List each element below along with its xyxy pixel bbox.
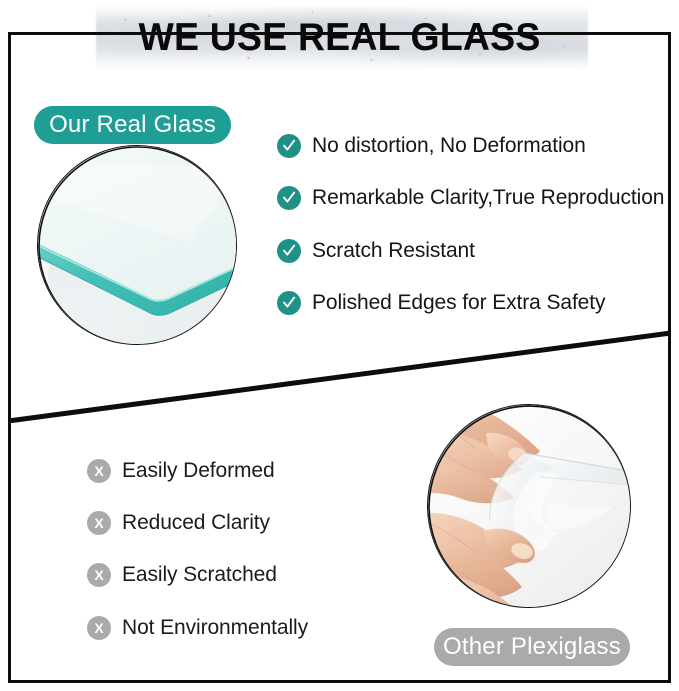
feature-row-good-4: Polished Edges for Extra Safety <box>277 291 605 315</box>
x-circle-icon-mark: X <box>94 568 103 582</box>
x-circle-icon-mark: X <box>94 621 103 635</box>
feature-row-bad-4: X Not Environmentally <box>87 616 308 640</box>
x-circle-icon-mark: X <box>94 464 103 478</box>
badge-other-plexiglass-label: Other Plexiglass <box>443 633 621 661</box>
feature-row-good-3: Scratch Resistant <box>277 239 475 263</box>
feature-row-bad-2: X Reduced Clarity <box>87 511 270 535</box>
photo-real-glass <box>37 145 237 345</box>
badge-other-plexiglass: Other Plexiglass <box>434 628 630 666</box>
feature-label: Scratch Resistant <box>312 239 475 263</box>
check-circle-icon <box>277 291 301 315</box>
feature-row-bad-1: X Easily Deformed <box>87 459 275 483</box>
feature-row-good-2: Remarkable Clarity,True Reproduction <box>277 186 664 210</box>
feature-label: Easily Deformed <box>122 459 275 483</box>
feature-label: Easily Scratched <box>122 563 277 587</box>
feature-row-good-1: No distortion, No Deformation <box>277 134 586 158</box>
page-title: WE USE REAL GLASS <box>14 16 666 60</box>
feature-label: No distortion, No Deformation <box>312 134 586 158</box>
check-circle-icon <box>277 134 301 158</box>
x-circle-icon: X <box>87 459 111 483</box>
x-circle-icon: X <box>87 563 111 587</box>
badge-our-real-glass-label: Our Real Glass <box>49 111 216 139</box>
feature-label: Not Environmentally <box>122 616 308 640</box>
feature-label: Polished Edges for Extra Safety <box>312 291 605 315</box>
feature-label: Reduced Clarity <box>122 511 270 535</box>
check-circle-icon <box>277 239 301 263</box>
x-circle-icon: X <box>87 511 111 535</box>
badge-our-real-glass: Our Real Glass <box>34 106 231 144</box>
feature-row-bad-3: X Easily Scratched <box>87 563 277 587</box>
check-circle-icon <box>277 186 301 210</box>
x-circle-icon-mark: X <box>94 516 103 530</box>
x-circle-icon: X <box>87 616 111 640</box>
photo-other-plexiglass <box>427 404 631 608</box>
feature-label: Remarkable Clarity,True Reproduction <box>312 186 664 210</box>
product-comparison-infographic: WE USE REAL GLASS Our Real Glass <box>0 0 679 691</box>
